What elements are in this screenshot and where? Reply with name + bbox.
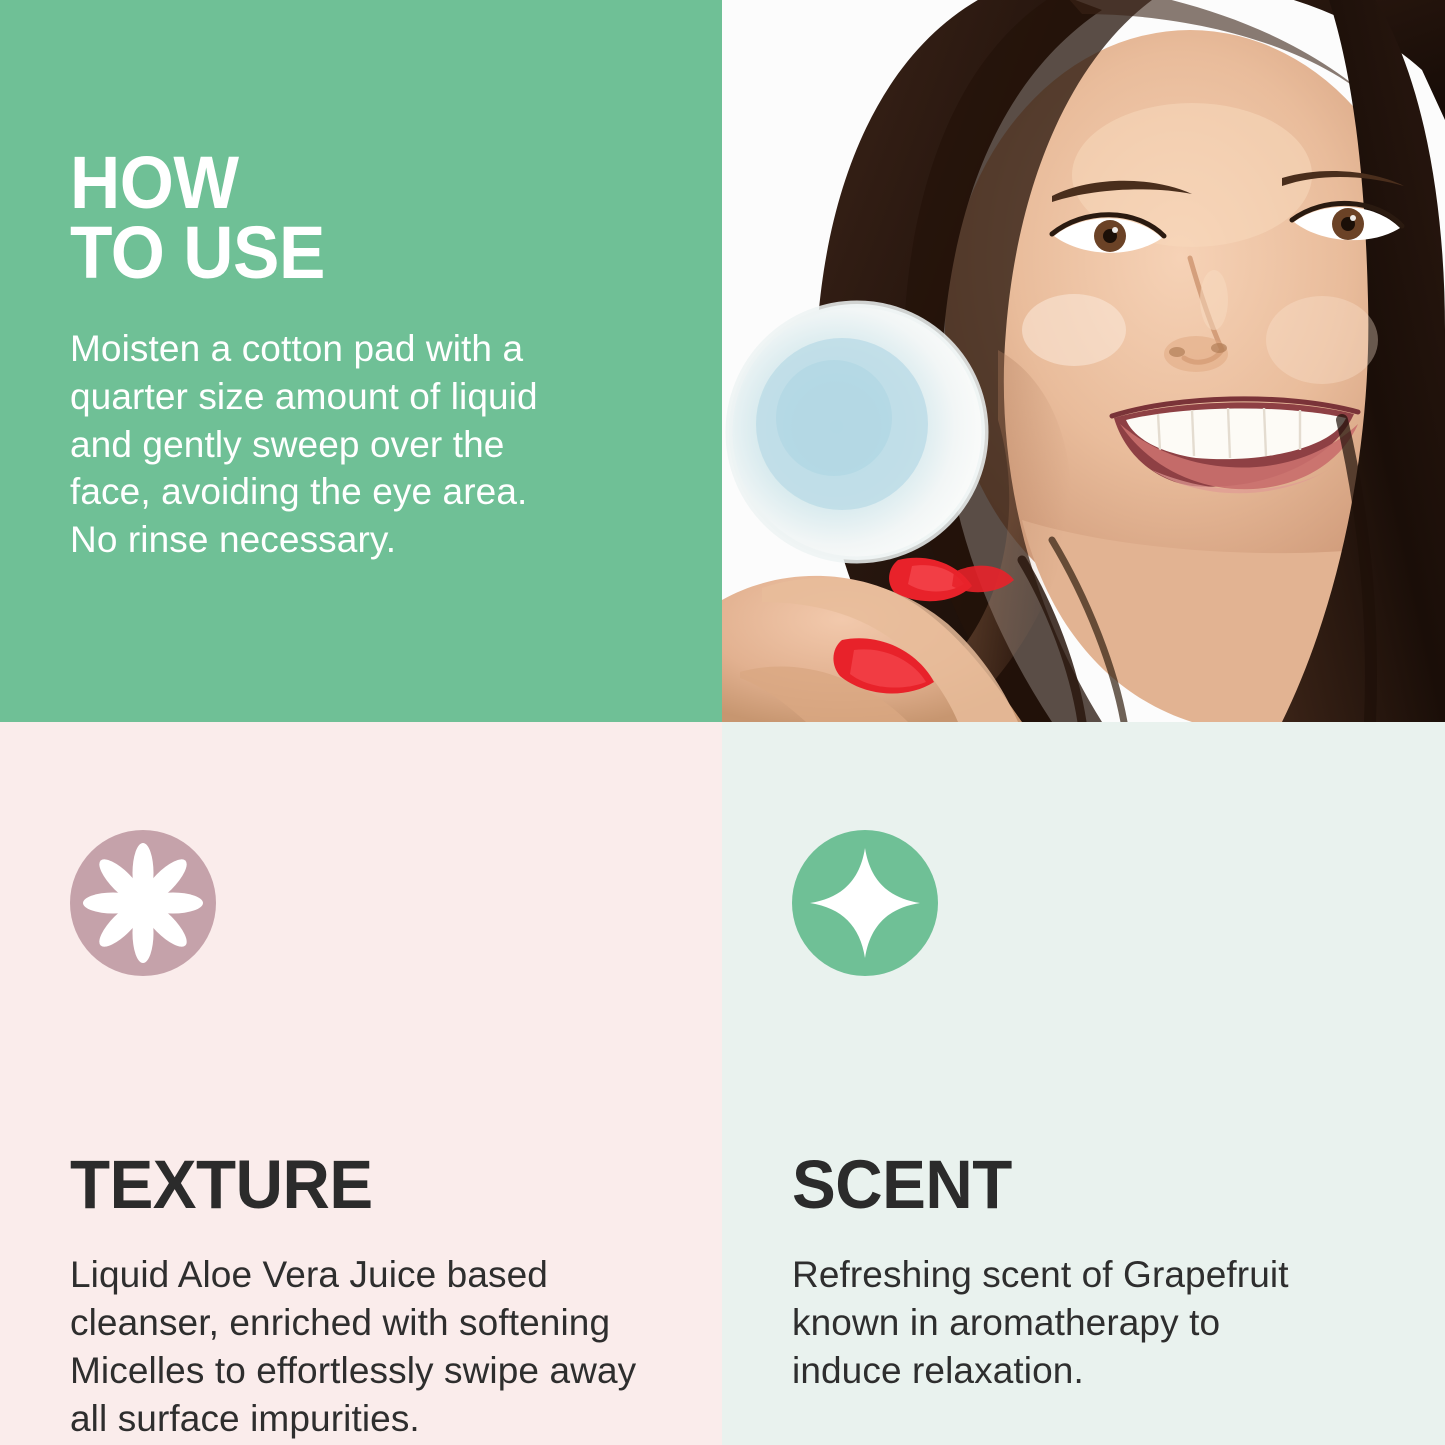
how-to-use-body: Moisten a cotton pad with a quarter size… — [70, 325, 580, 564]
texture-title: TEXTURE — [70, 1150, 640, 1219]
scent-panel: SCENT Refreshing scent of Grapefruit kno… — [722, 722, 1445, 1445]
sparkle-star-icon — [792, 830, 938, 976]
scent-title: SCENT — [792, 1150, 1362, 1219]
texture-body: Liquid Aloe Vera Juice based cleanser, e… — [70, 1251, 670, 1443]
texture-content: TEXTURE Liquid Aloe Vera Juice based cle… — [70, 830, 670, 1443]
how-to-use-content: HOW TO USE Moisten a cotton pad with a q… — [0, 0, 580, 564]
model-photo — [722, 0, 1445, 722]
product-infographic: HOW TO USE Moisten a cotton pad with a q… — [0, 0, 1445, 1445]
texture-panel: TEXTURE Liquid Aloe Vera Juice based cle… — [0, 722, 722, 1445]
how-to-use-title: HOW TO USE — [70, 148, 549, 287]
scent-content: SCENT Refreshing scent of Grapefruit kno… — [792, 830, 1392, 1395]
how-to-use-panel: HOW TO USE Moisten a cotton pad with a q… — [0, 0, 722, 722]
scent-body: Refreshing scent of Grapefruit known in … — [792, 1251, 1337, 1395]
model-photo-panel — [722, 0, 1445, 722]
flower-petal-icon — [70, 830, 216, 976]
